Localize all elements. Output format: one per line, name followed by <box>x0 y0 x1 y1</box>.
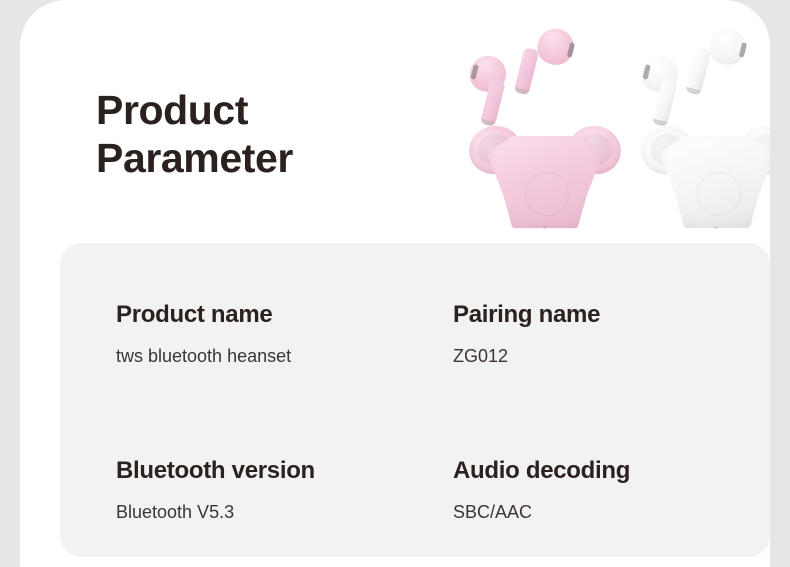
spec-item-product-name: Product name tws bluetooth heanset <box>116 301 453 457</box>
specification-grid: Product name tws bluetooth heanset Pairi… <box>116 301 756 567</box>
spec-label: Pairing name <box>453 301 753 329</box>
spec-item-audio-decoding: Audio decoding SBC/AAC <box>453 457 753 567</box>
charging-case-pink-icon <box>469 122 621 232</box>
spec-value: tws bluetooth heanset <box>116 345 453 367</box>
spec-item-bluetooth-version: Bluetooth version Bluetooth V5.3 <box>116 457 453 567</box>
spec-row: Bluetooth version Bluetooth V5.3 Audio d… <box>116 457 756 567</box>
product-image-group <box>445 10 770 235</box>
white-earbuds-with-case <box>635 10 770 235</box>
spec-value: ZG012 <box>453 345 753 367</box>
charging-case-white-icon <box>641 122 770 232</box>
specification-panel: Product name tws bluetooth heanset Pairi… <box>60 243 770 557</box>
spec-value: SBC/AAC <box>453 501 753 523</box>
product-card: Product Parameter <box>20 0 770 567</box>
spec-label: Audio decoding <box>453 457 753 485</box>
product-parameter-page: Product Parameter <box>0 0 790 567</box>
pink-earbuds-with-case <box>463 10 628 235</box>
spec-value: Bluetooth V5.3 <box>116 501 453 523</box>
spec-label: Product name <box>116 301 453 329</box>
spec-label: Bluetooth version <box>116 457 453 485</box>
page-title: Product Parameter <box>96 86 426 182</box>
spec-item-pairing-name: Pairing name ZG012 <box>453 301 753 457</box>
spec-row: Product name tws bluetooth heanset Pairi… <box>116 301 756 457</box>
